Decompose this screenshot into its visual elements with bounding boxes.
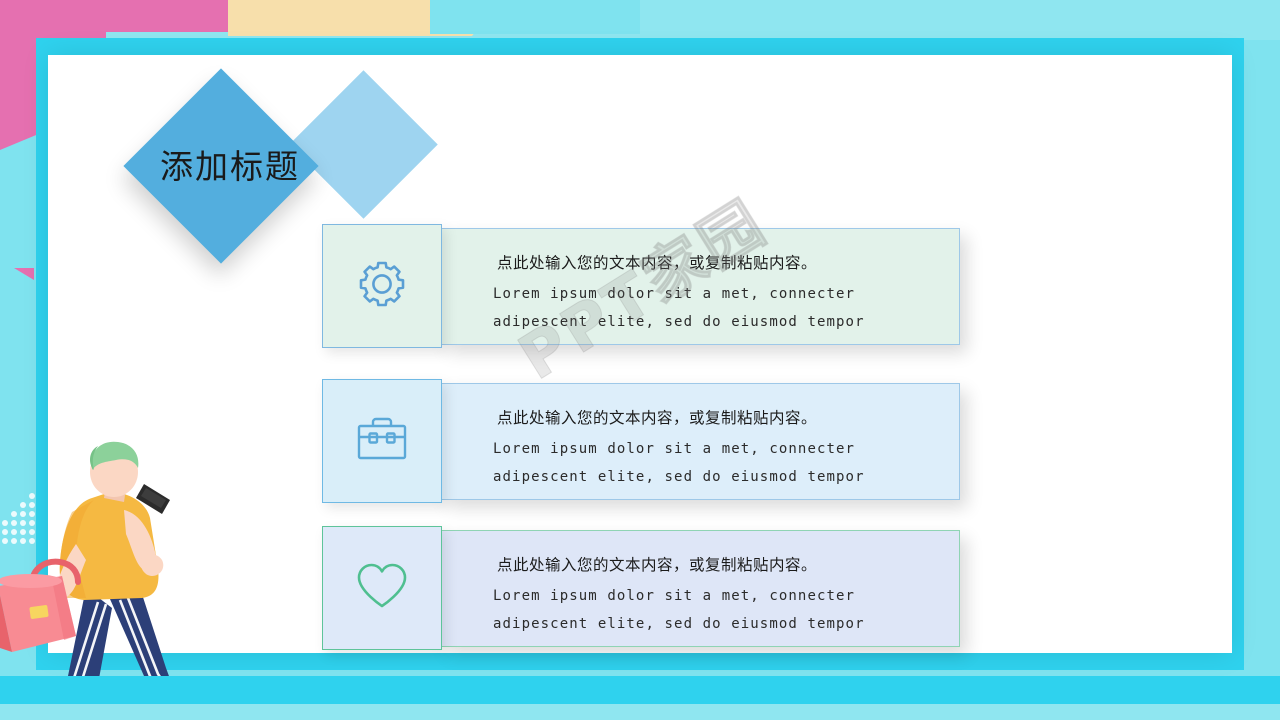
pink-triangle-accent xyxy=(14,268,34,280)
row-body-line-2: adipescent elite, sed do eiusmod tempor xyxy=(493,308,951,336)
icon-tile[interactable] xyxy=(322,224,442,348)
text-panel[interactable]: 点此处输入您的文本内容，或复制粘贴内容。 Lorem ipsum dolor s… xyxy=(440,383,960,500)
content-row: 点此处输入您的文本内容，或复制粘贴内容。 Lorem ipsum dolor s… xyxy=(322,224,960,349)
row-body-line-1: Lorem ipsum dolor sit a met, connecter xyxy=(493,435,951,463)
row-heading: 点此处输入您的文本内容，或复制粘贴内容。 xyxy=(497,406,951,428)
text-panel[interactable]: 点此处输入您的文本内容，或复制粘贴内容。 Lorem ipsum dolor s… xyxy=(440,530,960,647)
icon-tile[interactable] xyxy=(322,379,442,503)
briefcase-icon xyxy=(354,414,410,469)
row-body-line-2: adipescent elite, sed do eiusmod tempor xyxy=(493,463,951,491)
heart-icon xyxy=(354,560,410,617)
content-row: 点此处输入您的文本内容，或复制粘贴内容。 Lorem ipsum dolor s… xyxy=(322,526,960,651)
row-body-line-2: adipescent elite, sed do eiusmod tempor xyxy=(493,610,951,638)
cyan-strip xyxy=(430,0,640,34)
row-body-line-1: Lorem ipsum dolor sit a met, connecter xyxy=(493,280,951,308)
row-heading: 点此处输入您的文本内容，或复制粘贴内容。 xyxy=(497,251,951,273)
slide-canvas: 添加标题 点此处输入您的文本内容，或复制粘贴内容。 Lorem ipsum do… xyxy=(0,0,1280,720)
bottom-cyan-band xyxy=(0,676,1280,704)
row-heading: 点此处输入您的文本内容，或复制粘贴内容。 xyxy=(497,553,951,575)
gear-icon xyxy=(354,256,410,317)
bottom-light-cyan-band xyxy=(0,704,1280,720)
content-row: 点此处输入您的文本内容，或复制粘贴内容。 Lorem ipsum dolor s… xyxy=(322,379,960,504)
text-panel[interactable]: 点此处输入您的文本内容，或复制粘贴内容。 Lorem ipsum dolor s… xyxy=(440,228,960,345)
row-body-line-1: Lorem ipsum dolor sit a met, connecter xyxy=(493,582,951,610)
icon-tile[interactable] xyxy=(322,526,442,650)
page-title: 添加标题 xyxy=(160,140,480,188)
